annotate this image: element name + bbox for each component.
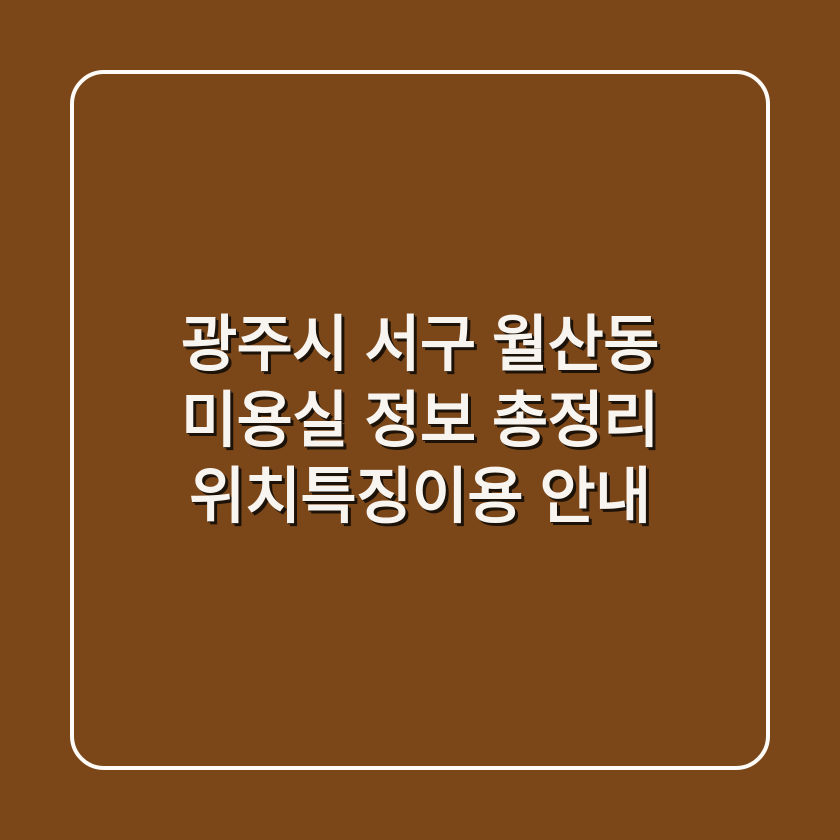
- title-line-3: 위치특징이용 안내: [96, 458, 744, 534]
- title-line-2: 미용실 정보 총정리: [96, 382, 744, 458]
- title-line-1: 광주시 서구 월산동: [96, 306, 744, 382]
- thumbnail-card: 광주시 서구 월산동 미용실 정보 총정리 위치특징이용 안내: [0, 0, 840, 840]
- page-title: 광주시 서구 월산동 미용실 정보 총정리 위치특징이용 안내: [0, 0, 840, 840]
